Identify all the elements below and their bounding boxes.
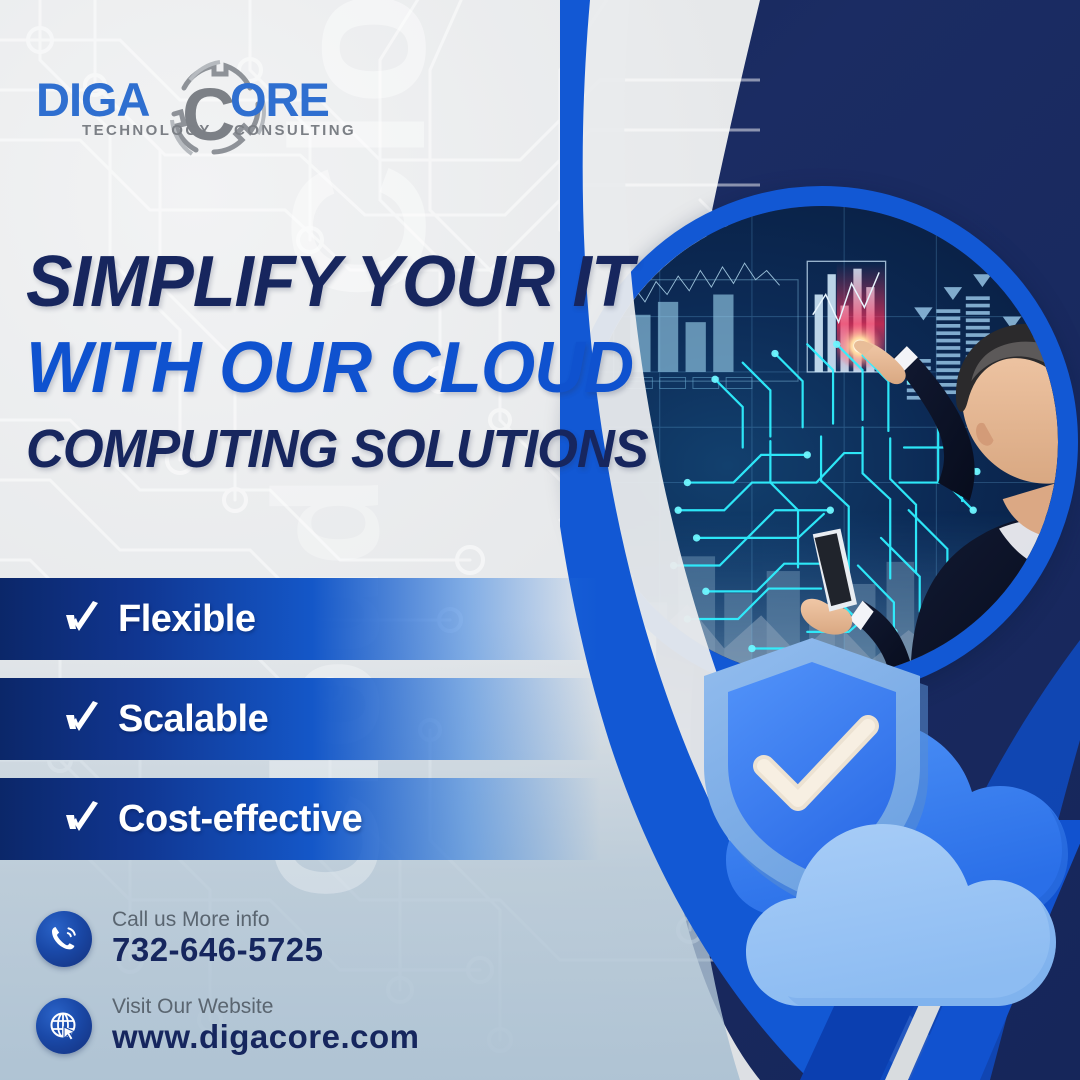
logo-text-ore: ORE: [230, 72, 329, 127]
check-icon: [62, 599, 102, 639]
headline-line-1: SIMPLIFY YOUR IT: [26, 246, 569, 318]
logo-tagline-technology: TECHNOLOGY: [82, 122, 212, 139]
globe-cursor-icon: [36, 998, 92, 1054]
cloud-security-illustration: [664, 616, 1080, 1016]
feature-label: Scalable: [118, 698, 268, 741]
logo-text-diga: DIGA: [36, 72, 150, 127]
feature-bar-scalable[interactable]: Scalable: [0, 678, 600, 760]
feature-label: Cost-effective: [118, 798, 362, 841]
poster-canvas: Cloud Cloud: [0, 0, 1080, 1080]
check-icon: [62, 699, 102, 739]
phone-icon: [36, 911, 92, 967]
contact-block: Call us More info 732-646-5725 Visit Our…: [36, 908, 420, 1080]
contact-phone-label: Call us More info: [112, 908, 270, 931]
logo-letter-c: C: [182, 78, 235, 152]
check-icon: [62, 799, 102, 839]
logo-tagline-consulting: CONSULTING: [234, 122, 356, 139]
headline-line-2: WITH OUR CLOUD: [26, 332, 569, 404]
contact-phone-row[interactable]: Call us More info 732-646-5725: [36, 908, 420, 969]
contact-website-label: Visit Our Website: [112, 995, 273, 1018]
contact-website-text: Visit Our Website www.digacore.com: [112, 995, 420, 1056]
logo-wordmark: DIGA C ORE TECHNOLOGY CONSULTING: [34, 72, 334, 134]
feature-bar-list: Flexible Scalable Cost-effective: [0, 578, 620, 878]
contact-phone-value: 732-646-5725: [112, 931, 324, 969]
brand-logo[interactable]: DIGA C ORE TECHNOLOGY CONSULTING: [34, 72, 334, 167]
headline-line-3: COMPUTING SOLUTIONS: [26, 422, 569, 476]
headline-block: SIMPLIFY YOUR IT WITH OUR CLOUD COMPUTIN…: [26, 246, 586, 476]
feature-bar-flexible[interactable]: Flexible: [0, 578, 600, 660]
feature-label: Flexible: [118, 598, 256, 641]
feature-bar-cost-effective[interactable]: Cost-effective: [0, 778, 600, 860]
contact-website-value: www.digacore.com: [112, 1018, 420, 1056]
contact-phone-text: Call us More info 732-646-5725: [112, 908, 324, 969]
contact-website-row[interactable]: Visit Our Website www.digacore.com: [36, 995, 420, 1056]
